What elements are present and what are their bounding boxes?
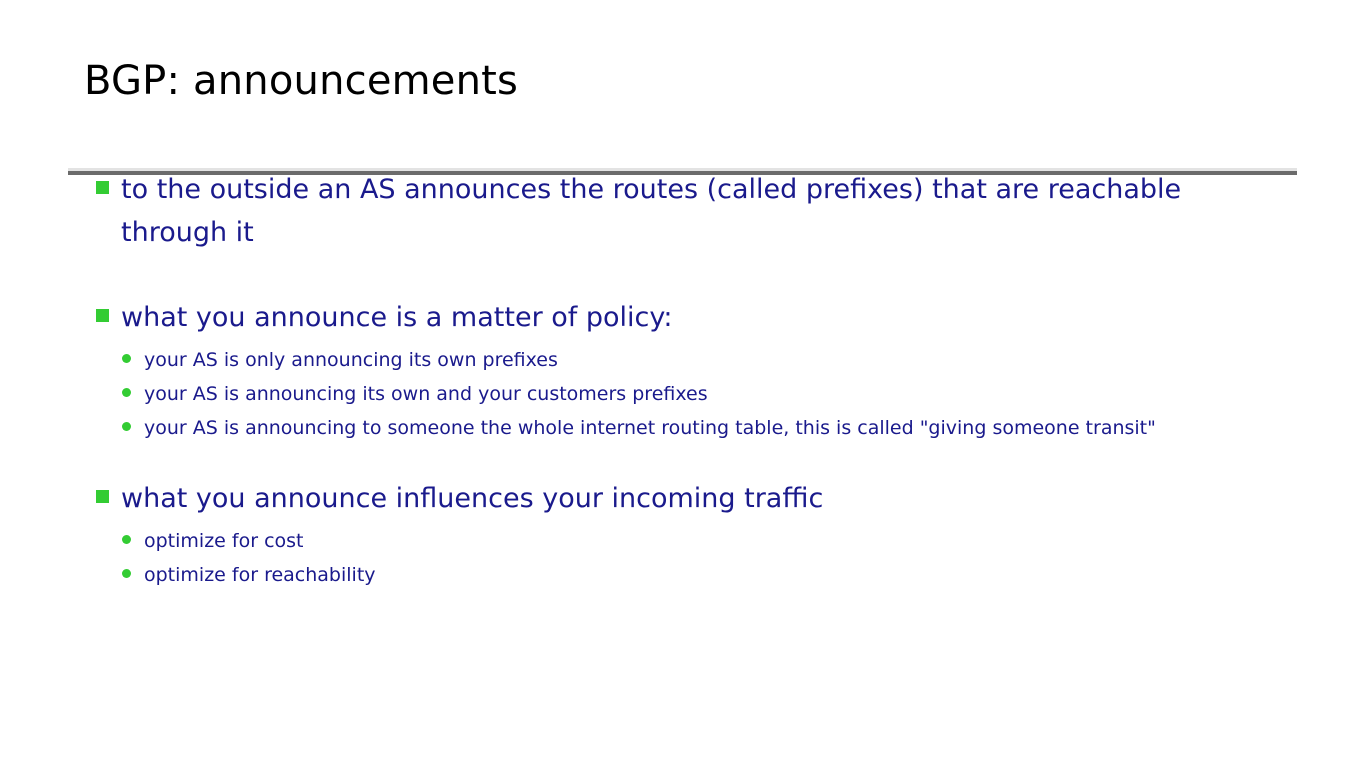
sub-list: optimize for cost optimize for reachabil… <box>0 524 1366 592</box>
dot-bullet-icon <box>122 569 131 578</box>
page-title: BGP: announcements <box>84 56 518 106</box>
bullet-text-level1: what you announce is a matter of policy: <box>121 296 1191 339</box>
square-bullet-icon <box>96 490 109 503</box>
bullet-text-level1: what you announce influences your incomi… <box>121 477 1191 520</box>
spacer <box>0 445 1366 477</box>
bullet-text-level2: your AS is announcing to someone the who… <box>144 411 1234 445</box>
list-item: optimize for cost <box>0 524 1366 558</box>
dot-bullet-icon <box>122 422 131 431</box>
list-item: to the outside an AS announces the route… <box>0 168 1366 254</box>
list-item: your AS is announcing its own and your c… <box>0 377 1366 411</box>
slide-canvas: BGP: announcements to the outside an AS … <box>0 0 1366 768</box>
slide-body: to the outside an AS announces the route… <box>0 168 1366 592</box>
bullet-text-level1: to the outside an AS announces the route… <box>121 168 1191 254</box>
list-item: what you announce is a matter of policy: <box>0 296 1366 339</box>
spacer <box>0 254 1366 296</box>
bullet-text-level2: your AS is announcing its own and your c… <box>144 377 1234 411</box>
bullet-text-level2: optimize for reachability <box>144 558 1234 592</box>
title-block: BGP: announcements <box>0 56 1366 126</box>
dot-bullet-icon <box>122 354 131 363</box>
dot-bullet-icon <box>122 388 131 397</box>
list-item: optimize for reachability <box>0 558 1366 592</box>
square-bullet-icon <box>96 309 109 322</box>
bullet-text-level2: your AS is only announcing its own prefi… <box>144 343 1234 377</box>
list-item: your AS is only announcing its own prefi… <box>0 343 1366 377</box>
dot-bullet-icon <box>122 535 131 544</box>
square-bullet-icon <box>96 181 109 194</box>
bullet-text-level2: optimize for cost <box>144 524 1234 558</box>
list-item: what you announce influences your incomi… <box>0 477 1366 520</box>
sub-list: your AS is only announcing its own prefi… <box>0 343 1366 445</box>
list-item: your AS is announcing to someone the who… <box>0 411 1366 445</box>
